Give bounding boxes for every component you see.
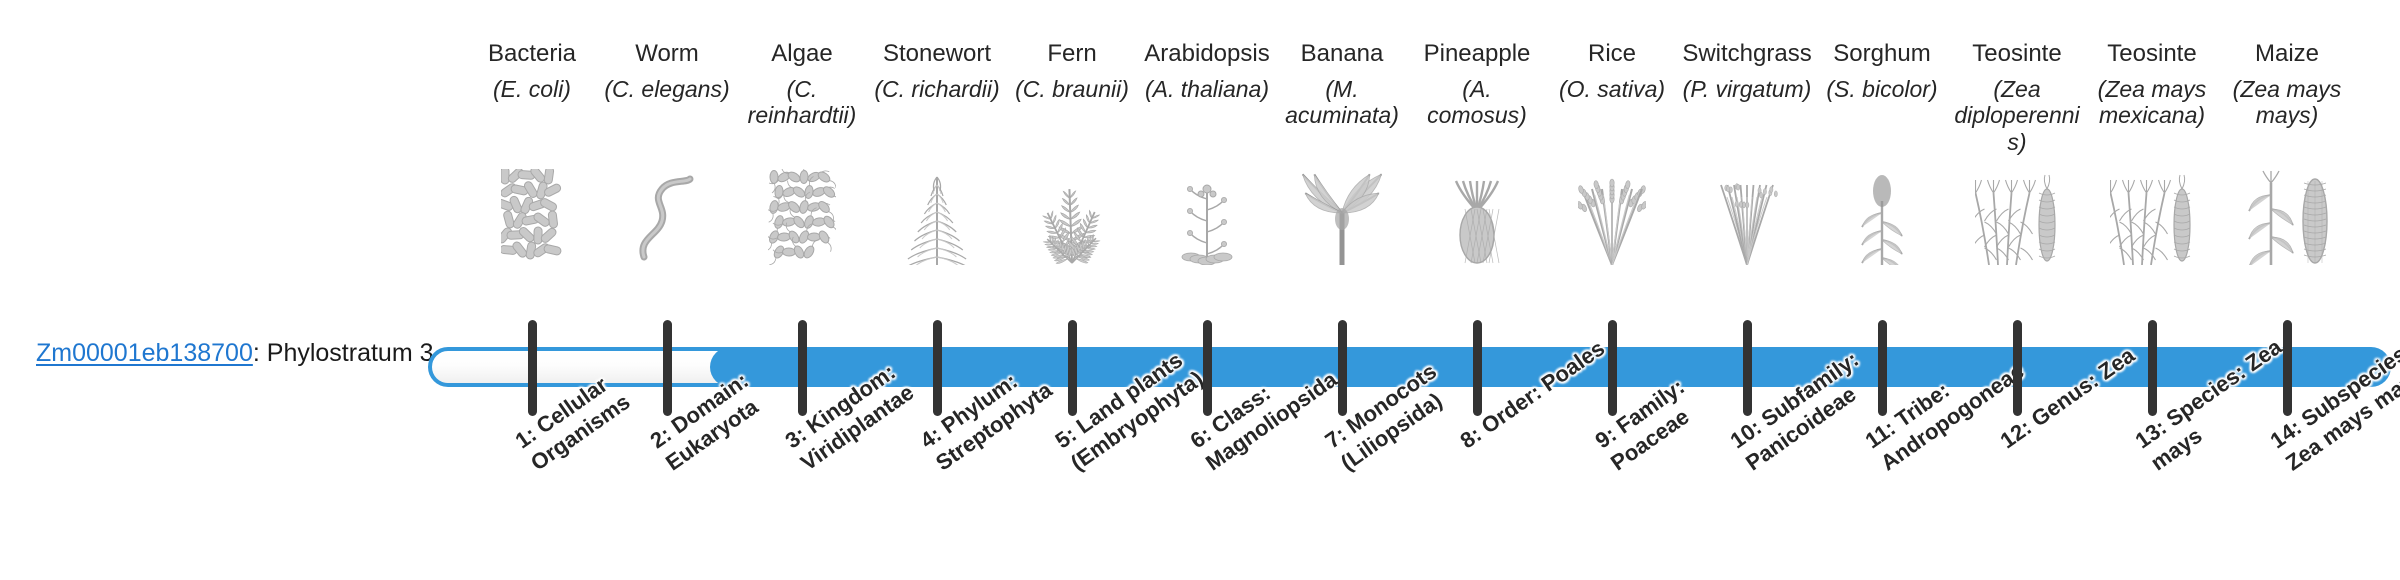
species-common-name: Switchgrass	[1681, 40, 1813, 68]
stratum-tick[interactable]	[1473, 320, 1482, 416]
species-column: Arabidopsis(A. thaliana)	[1141, 0, 1273, 580]
phylostratum-bar-fill[interactable]	[710, 347, 2391, 387]
species-column: Maize(Zea mays mays)	[2221, 0, 2353, 580]
species-common-name: Stonewort	[871, 40, 1003, 68]
stratum-tick[interactable]	[2283, 320, 2292, 416]
species-scientific-name: (A. comosus)	[1411, 76, 1543, 129]
species-common-name: Teosinte	[2086, 40, 2218, 68]
species-column: Teosinte(Zea mays mexicana)	[2086, 0, 2218, 580]
species-column: Pineapple(A. comosus)	[1411, 0, 1543, 580]
gene-id-link[interactable]: Zm00001eb138700	[36, 339, 253, 367]
stratum-tick[interactable]	[1743, 320, 1752, 416]
algae-icon	[736, 160, 868, 265]
species-scientific-name: (M. acuminata)	[1276, 76, 1408, 129]
species-column: Fern(C. braunii)	[1006, 0, 1138, 580]
species-common-name: Rice	[1546, 40, 1678, 68]
gene-separator: :	[253, 339, 267, 367]
teosinte-icon	[1951, 160, 2083, 265]
stratum-tick[interactable]	[528, 320, 537, 416]
species-scientific-name: (C. elegans)	[601, 76, 733, 102]
stratum-tick[interactable]	[663, 320, 672, 416]
stratum-tick[interactable]	[933, 320, 942, 416]
species-scientific-name: (C. braunii)	[1006, 76, 1138, 102]
stonewort-icon	[871, 160, 1003, 265]
stratum-tick[interactable]	[1878, 320, 1887, 416]
species-column: Algae(C. reinhardtii)	[736, 0, 868, 580]
rice-icon	[1546, 160, 1678, 265]
arabidopsis-icon	[1141, 160, 1273, 265]
species-scientific-name: (C. reinhardtii)	[736, 76, 868, 129]
species-common-name: Sorghum	[1816, 40, 1948, 68]
species-scientific-name: (O. sativa)	[1546, 76, 1678, 102]
species-scientific-name: (S. bicolor)	[1816, 76, 1948, 102]
species-scientific-name: (Zea mays mexicana)	[2086, 76, 2218, 129]
teosinte-icon	[2086, 160, 2218, 265]
species-scientific-name: (Zea mays mays)	[2221, 76, 2353, 129]
species-column: Bacteria(E. coli)	[466, 0, 598, 580]
pineapple-icon	[1411, 160, 1543, 265]
species-common-name: Arabidopsis	[1141, 40, 1273, 68]
species-common-name: Algae	[736, 40, 868, 68]
species-column: Sorghum(S. bicolor)	[1816, 0, 1948, 580]
stratum-tick[interactable]	[1068, 320, 1077, 416]
species-scientific-name: (C. richardii)	[871, 76, 1003, 102]
species-column: Rice(O. sativa)	[1546, 0, 1678, 580]
gene-phylostratum-label: Zm00001eb138700: Phylostratum 3	[36, 338, 466, 369]
species-scientific-name: (A. thaliana)	[1141, 76, 1273, 102]
stratum-tick[interactable]	[2013, 320, 2022, 416]
species-common-name: Maize	[2221, 40, 2353, 68]
fern-icon	[1006, 160, 1138, 265]
species-common-name: Worm	[601, 40, 733, 68]
stratum-tick[interactable]	[1338, 320, 1347, 416]
species-scientific-name: (Zea diploperennis)	[1951, 76, 2083, 155]
phylostratum-text: Phylostratum 3	[267, 339, 434, 367]
species-common-name: Teosinte	[1951, 40, 2083, 68]
species-column: Switchgrass(P. virgatum)	[1681, 0, 1813, 580]
stratum-tick[interactable]	[798, 320, 807, 416]
sorghum-icon	[1816, 160, 1948, 265]
maize-icon	[2221, 160, 2353, 265]
switchgrass-icon	[1681, 160, 1813, 265]
worm-icon	[601, 160, 733, 265]
species-column: Banana(M. acuminata)	[1276, 0, 1408, 580]
stratum-tick[interactable]	[1203, 320, 1212, 416]
species-common-name: Fern	[1006, 40, 1138, 68]
bacteria-icon	[466, 160, 598, 265]
stratum-tick[interactable]	[2148, 320, 2157, 416]
stratum-tick[interactable]	[1608, 320, 1617, 416]
species-common-name: Bacteria	[466, 40, 598, 68]
species-column: Stonewort(C. richardii)	[871, 0, 1003, 580]
species-scientific-name: (P. virgatum)	[1681, 76, 1813, 102]
species-columns: Bacteria(E. coli)Worm(C. elegans) Algae(…	[472, 0, 2372, 580]
species-common-name: Pineapple	[1411, 40, 1543, 68]
species-common-name: Banana	[1276, 40, 1408, 68]
species-column: Worm(C. elegans)	[601, 0, 733, 580]
banana-icon	[1276, 160, 1408, 265]
species-scientific-name: (E. coli)	[466, 76, 598, 102]
species-column: Teosinte(Zea diploperennis)	[1951, 0, 2083, 580]
